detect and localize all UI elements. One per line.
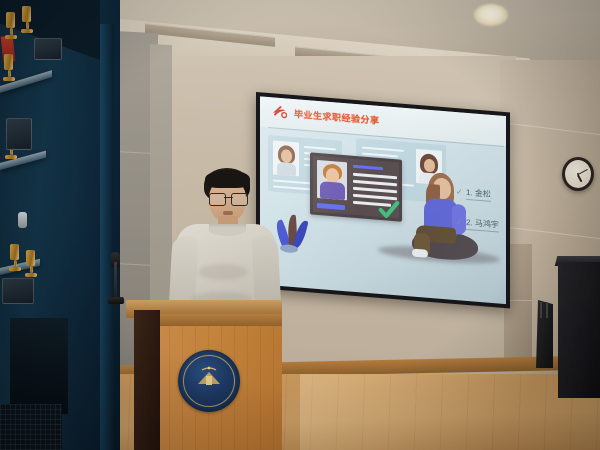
seal-mark-icon bbox=[194, 364, 224, 390]
small-floor-speaker bbox=[536, 300, 553, 368]
glasses-icon bbox=[209, 193, 248, 204]
wooden-podium bbox=[126, 300, 282, 450]
gooseneck-microphone bbox=[108, 252, 122, 304]
check-icon: ✓ bbox=[456, 188, 463, 196]
party-emblem-icon bbox=[272, 104, 287, 119]
seated-woman-illustration bbox=[412, 171, 472, 262]
trophy-display-cabinet bbox=[0, 0, 120, 450]
clock-hour-hand bbox=[577, 174, 582, 182]
monitor-profile-photo bbox=[317, 160, 347, 200]
speaker-grill bbox=[0, 404, 62, 450]
list-item-label: 2. 马鸿宇 bbox=[466, 217, 499, 233]
check-icon: ✓ bbox=[456, 218, 463, 226]
ceiling-light-icon bbox=[474, 4, 508, 26]
clock-face bbox=[565, 160, 591, 188]
presentation-photo: 毕业生求职经验分享 bbox=[0, 0, 600, 450]
speaker-slot bbox=[540, 302, 542, 318]
trophy-icon bbox=[6, 12, 17, 39]
mouth bbox=[223, 211, 233, 215]
award-plaque bbox=[6, 118, 32, 150]
award-plaque bbox=[34, 38, 62, 60]
green-check-icon bbox=[378, 198, 400, 222]
floor-speaker-tower bbox=[558, 262, 600, 398]
clock-minute-hand bbox=[578, 169, 588, 175]
plant-pot bbox=[280, 244, 298, 253]
cabinet-handle[interactable] bbox=[18, 212, 27, 228]
hair-front bbox=[205, 170, 250, 188]
podium-side-panel bbox=[134, 310, 160, 450]
sweater-collar bbox=[209, 224, 246, 236]
floor-reflection bbox=[300, 374, 600, 450]
cabinet-lower-panel bbox=[10, 318, 68, 414]
microphone-base bbox=[108, 297, 124, 304]
wall-clock bbox=[562, 157, 594, 191]
trophy-icon bbox=[22, 6, 33, 33]
speaker-slot bbox=[546, 302, 548, 318]
list-item-label: 1. 金松 bbox=[466, 187, 491, 202]
slide: 毕业生求职经验分享 bbox=[260, 96, 506, 304]
trophy-icon bbox=[10, 244, 21, 271]
cabinet-edge bbox=[100, 24, 114, 450]
trophy-icon bbox=[4, 54, 15, 81]
award-plaque bbox=[2, 278, 34, 304]
projection-screen: 毕业生求职经验分享 bbox=[256, 92, 510, 308]
trophy-icon bbox=[26, 250, 37, 277]
university-seal bbox=[178, 350, 240, 412]
